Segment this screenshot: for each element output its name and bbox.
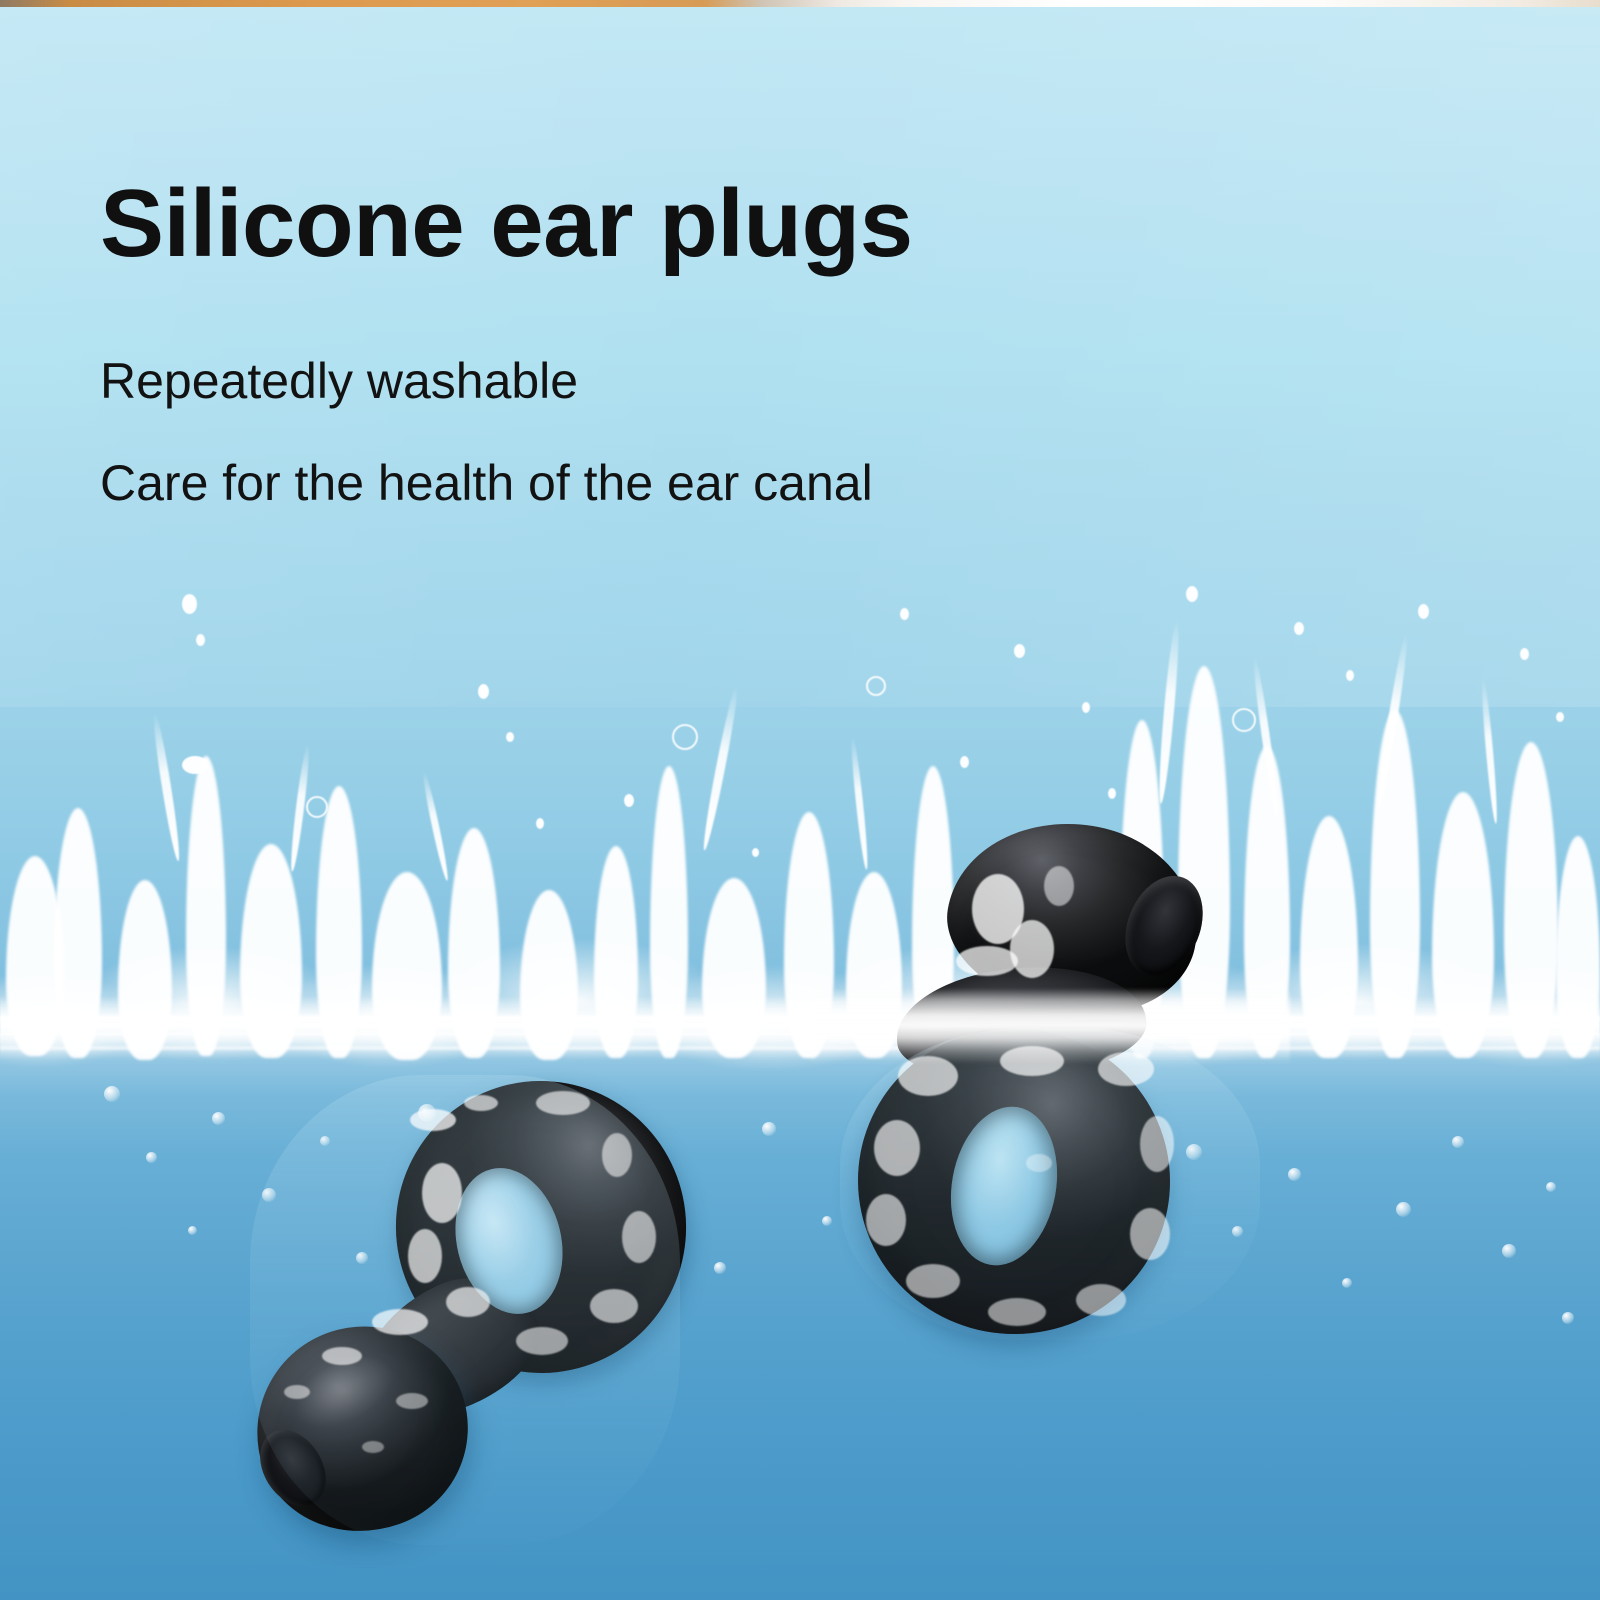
ear-plug-left [250, 1075, 680, 1545]
promo-banner: Silicone ear plugs Repeatedly washable C… [0, 0, 1600, 1600]
bleed-segment-white [896, 0, 1600, 7]
bleed-segment-blend [704, 0, 896, 7]
feature-bullet-ear-health: Care for the health of the ear canal [100, 458, 1200, 508]
waterline-across-product [810, 988, 1290, 1064]
water-surface-line-1 [0, 1016, 1600, 1021]
adjacent-image-bleed-strip [0, 0, 1600, 7]
water-surface-band [0, 996, 1600, 1060]
page-title: Silicone ear plugs [100, 176, 1200, 272]
water-body [0, 1034, 1600, 1600]
water-surface-line-3 [0, 1046, 1600, 1050]
water-surface-line-2 [0, 1032, 1600, 1035]
copy-block: Silicone ear plugs Repeatedly washable C… [100, 176, 1200, 508]
feature-bullet-list: Repeatedly washable Care for the health … [100, 356, 1200, 508]
bleed-segment-tan [0, 0, 704, 7]
feature-bullet-washable: Repeatedly washable [100, 356, 1200, 406]
ear-plug-right [840, 820, 1260, 1340]
